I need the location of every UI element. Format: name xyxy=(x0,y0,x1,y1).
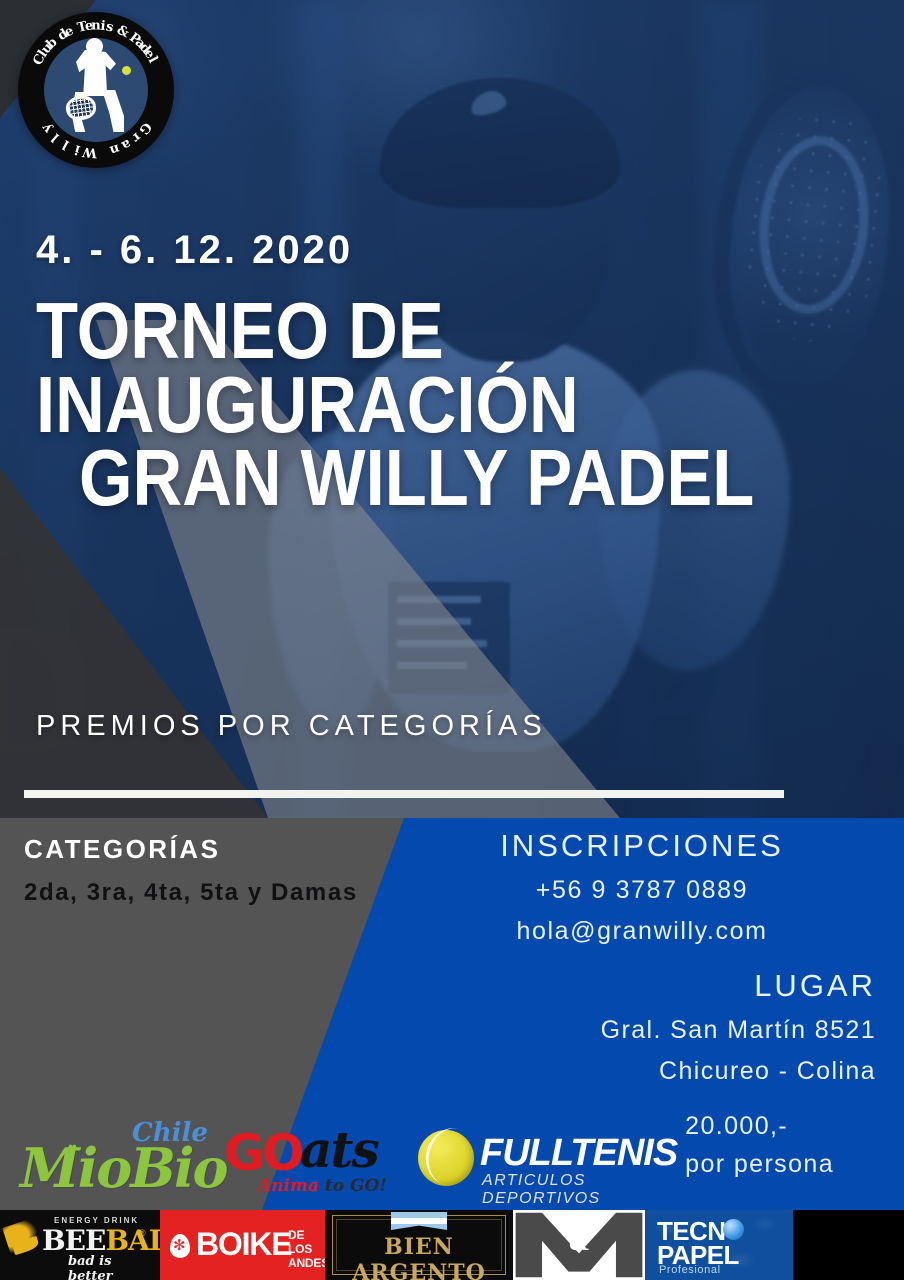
sponsor-strip-filler xyxy=(793,1210,904,1280)
water-drop-icon xyxy=(170,1234,190,1258)
categories-list: 2da, 3ra, 4ta, 5ta y Damas xyxy=(24,879,358,907)
logo-arc-char: W xyxy=(82,143,98,159)
price-per-person: por persona xyxy=(685,1146,834,1184)
goats-tagline: Anima to GO! xyxy=(258,1176,387,1196)
wm-ampersand: & xyxy=(569,1230,589,1256)
miobio-wordmark: MioBio xyxy=(20,1136,226,1200)
club-logo: Club de Tenis & Padel Gran Willy xyxy=(18,12,174,168)
bien-argento-wordmark: BIEN ARGENTO xyxy=(325,1234,513,1280)
sponsor-fulltenis-logo: FULLTENIS ARTICULOS DEPORTIVOS xyxy=(418,1124,648,1196)
boike-wordmark: BOIKE xyxy=(196,1226,291,1263)
goats-go: GO xyxy=(224,1124,302,1182)
goats-ats: ats xyxy=(300,1120,378,1179)
logo-arc-char: n xyxy=(108,141,121,158)
sponsor-goats-logo: GO ats Anima to GO! xyxy=(218,1118,398,1206)
beebad-bad: BAD xyxy=(105,1224,160,1257)
prizes-label: PREMIOS POR CATEGORÍAS xyxy=(36,710,547,743)
sponsor-beebad-logo: ENERGY DRINK BEEBAD ® bad is better xyxy=(0,1210,160,1280)
venue-address-line-2: Chicureo - Colina xyxy=(601,1057,876,1086)
registration-email[interactable]: hola@granwilly.com xyxy=(404,917,880,946)
title-line-3: GRAN WILLY PADEL xyxy=(36,441,758,515)
title-line-2: INAUGURACIÓN xyxy=(36,368,758,442)
sponsor-boike-logo: BOIKE DE LOS ANDES xyxy=(160,1210,325,1280)
tennis-ball-icon xyxy=(418,1130,474,1186)
logo-arc-char: l xyxy=(49,130,63,145)
event-date: 4. - 6. 12. 2020 xyxy=(36,228,876,272)
headline-block: 4. - 6. 12. 2020 TORNEO DE INAUGURACIÓN … xyxy=(36,228,876,515)
registration-heading: INSCRIPCIONES xyxy=(404,828,880,864)
tecnopapel-sphere-icon xyxy=(723,1219,744,1240)
tournament-poster: D P Club de Tenis & Padel Gran Willy xyxy=(0,0,904,1280)
beebad-bee: BEE xyxy=(42,1224,105,1257)
fulltenis-subtitle: ARTICULOS DEPORTIVOS xyxy=(482,1172,648,1208)
sponsor-bien-argento-logo: BIEN ARGENTO xyxy=(325,1210,513,1280)
boike-subtitle: DE LOS ANDES xyxy=(288,1229,325,1271)
padel-player-icon xyxy=(62,40,132,132)
beebad-tagline: bad is better xyxy=(68,1254,160,1280)
tecnopapel-line-3: Profesional xyxy=(659,1264,721,1276)
boike-sub-line-1: DE LOS xyxy=(288,1228,312,1256)
sponsor-miobio-logo: Chile ♥ MioBio xyxy=(14,1116,204,1206)
divider-rule xyxy=(24,790,784,798)
venue-block: LUGAR Gral. San Martín 8521 Chicureo - C… xyxy=(601,968,876,1086)
goats-tagline-red: Anima xyxy=(258,1176,319,1196)
sponsor-row-primary: Chile ♥ MioBio GO ats Anima to GO! FULLT… xyxy=(0,1110,660,1210)
event-title: TORNEO DE INAUGURACIÓN GRAN WILLY PADEL xyxy=(36,294,758,515)
registered-mark-icon: ® xyxy=(139,1228,146,1238)
registration-block: INSCRIPCIONES +56 9 3787 0889 hola@granw… xyxy=(404,828,880,946)
categories-block: CATEGORÍAS 2da, 3ra, 4ta, 5ta y Damas xyxy=(24,834,358,907)
registration-phone[interactable]: +56 9 3787 0889 xyxy=(404,876,880,905)
logo-arc-char: a xyxy=(119,136,134,153)
boike-sub-line-2: ANDES xyxy=(288,1256,325,1270)
sponsor-strip-bottom: ENERGY DRINK BEEBAD ® bad is better BOIK… xyxy=(0,1210,904,1280)
ball-icon xyxy=(122,66,131,75)
logo-arc-char: l xyxy=(60,137,72,153)
goats-tagline-dark: to GO! xyxy=(319,1176,387,1196)
venue-address-line-1: Gral. San Martín 8521 xyxy=(601,1016,876,1045)
fulltenis-wordmark: FULLTENIS xyxy=(480,1132,677,1175)
logo-arc-char: y xyxy=(39,121,55,136)
sponsor-wm-logo: & xyxy=(513,1210,645,1280)
categories-heading: CATEGORÍAS xyxy=(24,834,358,865)
title-line-1: TORNEO DE xyxy=(36,294,758,368)
racket-icon xyxy=(64,94,97,122)
venue-heading: LUGAR xyxy=(601,968,876,1004)
price-block: 20.000,- por persona xyxy=(685,1108,834,1183)
price-amount: 20.000,- xyxy=(685,1108,834,1146)
bee-wing-icon xyxy=(2,1217,44,1256)
sponsor-tecnopapel-logo: TECN PAPEL Profesional xyxy=(645,1210,793,1280)
